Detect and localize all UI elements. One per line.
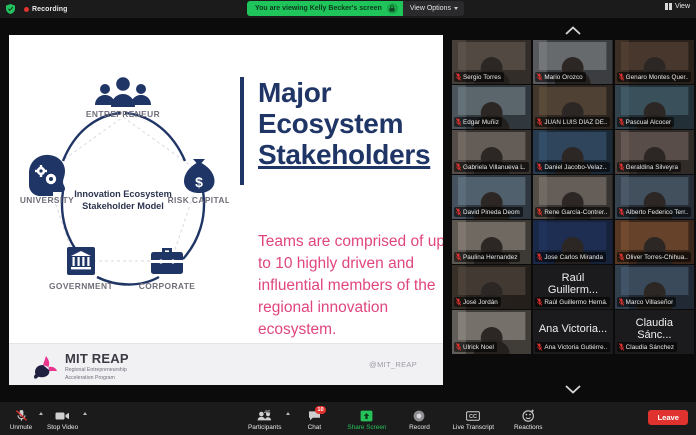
svg-text:ENTREPRENEUR: ENTREPRENEUR (86, 109, 160, 119)
unmute-label: Unmute (10, 424, 32, 431)
layout-icon (665, 3, 672, 10)
mit-reap-logo: MIT REAP Regional Entrepreneurship Accel… (33, 352, 129, 382)
share-screen-button[interactable]: Share Screen (347, 406, 386, 431)
participant-tile[interactable]: Jose Carlos Miranda (533, 220, 612, 264)
view-options-dropdown[interactable]: View Options (403, 1, 464, 16)
cc-icon: CC (466, 409, 480, 422)
participant-name-bar: Marco Villaseñor (617, 297, 677, 307)
participant-tile[interactable]: Mario Orozco (533, 40, 612, 84)
participant-name-bar: Mario Orozco (535, 72, 585, 82)
participant-tile[interactable]: David Pineda Deom (452, 175, 531, 219)
mic-muted-icon (619, 253, 624, 261)
participant-name-bar: José Jordán (454, 297, 501, 307)
participant-name: JUAN LUIS DÍAZ DE... (544, 119, 607, 126)
participant-tile[interactable]: Sergio Torres (452, 40, 531, 84)
headline-line-2: Ecosystem (258, 108, 438, 139)
participant-name: Ana Victoria Gutiérre... (544, 344, 607, 351)
participant-name-bar: Oliver Torres-Chihua... (617, 252, 692, 262)
mic-muted-icon (619, 343, 624, 351)
mit-reap-title: MIT REAP (65, 352, 129, 365)
participant-name-bar: JUAN LUIS DÍAZ DE... (535, 117, 610, 127)
participant-name: Alberto Federico Terr... (626, 209, 689, 216)
view-button-label: View (675, 3, 690, 10)
meeting-top-bar: Recording You are viewing Kelly Becker's… (0, 0, 696, 18)
svg-text:GOVERNMENT: GOVERNMENT (49, 281, 114, 291)
mic-muted-icon (537, 253, 542, 261)
mic-muted-icon (537, 208, 542, 216)
participant-name: Ulrick Noel (463, 344, 494, 351)
video-camera-icon (55, 409, 70, 422)
scroll-up-button[interactable] (450, 20, 696, 40)
chat-button[interactable]: 10 Chat (301, 406, 327, 431)
participant-name: Daniel Jacobo-Velaz... (544, 164, 607, 171)
participant-name: José Jordán (463, 299, 498, 306)
mit-reap-sub-1: Regional Entrepreneurship (65, 367, 129, 373)
participant-name: Oliver Torres-Chihua... (626, 254, 689, 261)
mic-muted-icon (619, 118, 624, 126)
record-circle-icon (413, 409, 425, 422)
viewing-screen-banner: You are viewing Kelly Becker's screen Vi… (247, 1, 464, 16)
emoji-icon (522, 409, 535, 422)
mic-muted-icon (619, 298, 624, 306)
participant-name: Sergio Torres (463, 74, 501, 81)
shield-icon[interactable] (6, 4, 15, 14)
participant-tile[interactable]: Pascual Alcocer (615, 85, 694, 129)
participant-tile[interactable]: Daniel Jacobo-Velaz... (533, 130, 612, 174)
live-transcript-button[interactable]: CC Live Transcript (452, 406, 494, 431)
mic-muted-icon (456, 118, 461, 126)
participants-count: 46 (264, 410, 270, 416)
video-options-chevron-icon[interactable] (83, 412, 87, 415)
participant-name-bar: Paulina Hernandez (454, 252, 520, 262)
participant-name-bar: Jose Carlos Miranda (535, 252, 606, 262)
participant-name: Raúl Guillermo Herná... (544, 299, 607, 306)
participant-video-strip: Sergio TorresMario OrozcoGenaro Montes Q… (450, 18, 696, 402)
mit-reap-beaver-icon (33, 354, 59, 380)
participants-label: Participants (248, 424, 281, 431)
participant-name-bar: Claudia Sánchez (617, 342, 677, 352)
mic-muted-icon (456, 208, 461, 216)
participant-name-bar: Rene García-Contrer... (535, 207, 610, 217)
participant-name: Edgar Muñiz (463, 119, 499, 126)
headline-line-1: Major (258, 77, 438, 108)
mic-muted-icon (619, 163, 624, 171)
participant-name-bar: Ana Victoria Gutiérre... (535, 342, 610, 352)
participant-tile[interactable]: José Jordán (452, 265, 531, 309)
share-screen-label: Share Screen (347, 424, 386, 431)
record-label: Record (409, 424, 430, 431)
participant-tile[interactable]: Edgar Muñiz (452, 85, 531, 129)
participant-name-bar: Geraldina Silveyra (617, 162, 681, 172)
headline-line-3: Stakeholders (258, 139, 438, 170)
mic-muted-icon (619, 208, 624, 216)
participant-tile[interactable]: Gabriela Villanueva L... (452, 130, 531, 174)
participant-name: Claudia Sánchez (626, 344, 674, 351)
accent-divider (240, 77, 244, 185)
participant-name-bar: Edgar Muñiz (454, 117, 502, 127)
viewing-screen-pill[interactable]: You are viewing Kelly Becker's screen (247, 1, 403, 16)
meeting-controls-toolbar: Unmute Stop Video 46 Participants (0, 402, 696, 435)
slide-footer: MIT REAP Regional Entrepreneurship Accel… (9, 343, 443, 385)
participant-name-bar: Gabriela Villanueva L... (454, 162, 529, 172)
mic-muted-icon (619, 73, 624, 81)
mic-muted-icon (456, 163, 461, 171)
participants-button[interactable]: 46 Participants (248, 406, 281, 431)
lock-icon[interactable] (387, 3, 398, 14)
participant-tile[interactable]: Marco Villaseñor (615, 265, 694, 309)
participant-name-bar: Daniel Jacobo-Velaz... (535, 162, 610, 172)
participant-tile[interactable]: Raúl Guillerm...Raúl Guillermo Herná... (533, 265, 612, 309)
recording-indicator[interactable]: Recording (24, 6, 68, 13)
live-transcript-label: Live Transcript (452, 424, 494, 431)
viewing-screen-text: You are viewing Kelly Becker's screen (255, 5, 382, 12)
mic-options-chevron-icon[interactable] (39, 412, 43, 415)
svg-text:CORPORATE: CORPORATE (139, 281, 196, 291)
participant-name: David Pineda Deom (463, 209, 520, 216)
mic-muted-icon (15, 409, 28, 422)
participant-name: Mario Orozco (544, 74, 582, 81)
mic-muted-icon (537, 163, 542, 171)
mic-muted-icon (456, 73, 461, 81)
participant-name: Geraldina Silveyra (626, 164, 678, 171)
mic-muted-icon (537, 73, 542, 81)
participant-name-bar: Pascual Alcocer (617, 117, 675, 127)
chat-label: Chat (308, 424, 322, 431)
mic-muted-icon (456, 343, 461, 351)
participant-name-bar: David Pineda Deom (454, 207, 523, 217)
participant-tile[interactable]: Ulrick Noel (452, 310, 531, 354)
twitter-handle: @MIT_REAP (369, 360, 417, 369)
record-button[interactable]: Record (406, 406, 432, 431)
stop-video-button[interactable]: Stop Video (47, 406, 78, 431)
participant-tile[interactable]: Geraldina Silveyra (615, 130, 694, 174)
scroll-down-button[interactable] (450, 379, 696, 399)
recording-dot-icon (24, 7, 29, 12)
participant-name-bar: Genaro Montes Quer... (617, 72, 692, 82)
mit-reap-sub-2: Acceleration Program (65, 375, 129, 381)
mic-muted-icon (456, 298, 461, 306)
mic-muted-icon (537, 118, 542, 126)
participant-name: Gabriela Villanueva L... (463, 164, 526, 171)
participant-tile[interactable]: Genaro Montes Quer... (615, 40, 694, 84)
participant-name: Jose Carlos Miranda (544, 254, 603, 261)
mic-muted-icon (537, 343, 542, 351)
mic-muted-icon (456, 253, 461, 261)
stop-video-label: Stop Video (47, 424, 78, 431)
stakeholder-model-diagram: ENTREPRENEUR UNIVERSITY (17, 45, 229, 325)
svg-text:CC: CC (469, 414, 477, 420)
chevron-down-icon (454, 7, 458, 10)
participant-tile[interactable]: Claudia Sánc...Claudia Sánchez (615, 310, 694, 354)
share-screen-up-arrow-icon (360, 409, 373, 422)
zoom-meeting-window: Recording You are viewing Kelly Becker's… (0, 0, 696, 435)
mic-muted-icon (537, 298, 542, 306)
participant-name: Marco Villaseñor (626, 299, 674, 306)
participant-name: Paulina Hernandez (463, 254, 517, 261)
participant-tile[interactable]: Oliver Torres-Chihua... (615, 220, 694, 264)
diagram-center-line2: Stakeholder Model (48, 200, 198, 212)
participant-tile[interactable]: JUAN LUIS DÍAZ DE... (533, 85, 612, 129)
participant-name: Rene García-Contrer... (544, 209, 607, 216)
view-layout-button[interactable]: View (665, 3, 690, 10)
diagram-center-line1: Innovation Ecosystem (48, 188, 198, 200)
participant-name-bar: Alberto Federico Terr... (617, 207, 692, 217)
unmute-button[interactable]: Unmute (8, 406, 34, 431)
participant-name-bar: Raúl Guillermo Herná... (535, 297, 610, 307)
participants-options-chevron-icon[interactable] (286, 412, 290, 415)
diagram-center-label: Innovation Ecosystem Stakeholder Model (48, 188, 198, 212)
leave-button[interactable]: Leave (648, 410, 688, 425)
participant-tile[interactable]: Rene García-Contrer... (533, 175, 612, 219)
participant-name: Genaro Montes Quer... (626, 74, 689, 81)
participant-name-bar: Ulrick Noel (454, 342, 497, 352)
chat-unread-badge: 10 (315, 406, 325, 414)
participant-tile[interactable]: Alberto Federico Terr... (615, 175, 694, 219)
participant-name: Pascual Alcocer (626, 119, 672, 126)
participant-name-bar: Sergio Torres (454, 72, 504, 82)
slide-headline: Major Ecosystem Stakeholders (258, 77, 438, 170)
participant-grid: Sergio TorresMario OrozcoGenaro Montes Q… (452, 40, 694, 354)
view-options-label: View Options (410, 5, 451, 12)
recording-label: Recording (32, 6, 68, 13)
slide-body-text: Teams are comprised of up to 10 highly d… (258, 231, 443, 341)
reactions-button[interactable]: Reactions (514, 406, 542, 431)
reactions-label: Reactions (514, 424, 542, 431)
shared-screen-stage[interactable]: ENTREPRENEUR UNIVERSITY (0, 18, 450, 402)
participant-tile[interactable]: Ana Victoria...Ana Victoria Gutiérre... (533, 310, 612, 354)
participant-tile[interactable]: Paulina Hernandez (452, 220, 531, 264)
presentation-slide: ENTREPRENEUR UNIVERSITY (9, 35, 443, 385)
